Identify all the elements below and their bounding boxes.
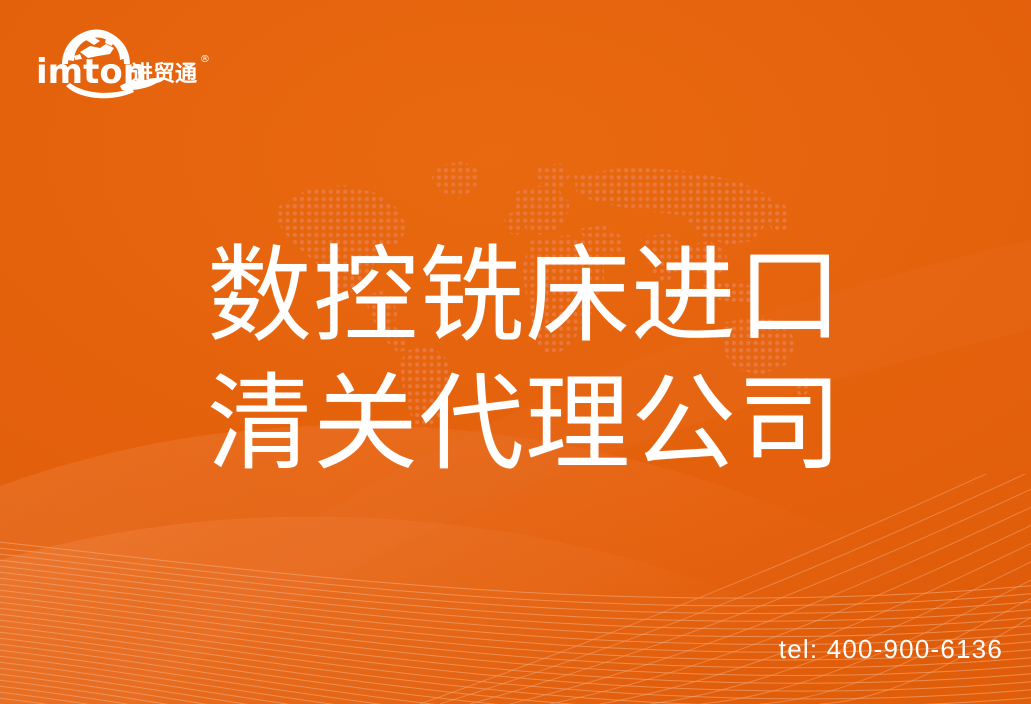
- page-title: 数控铣床进口 清关代理公司: [207, 232, 867, 488]
- registered-mark-icon: ®: [200, 54, 210, 65]
- headline-line-2: 清关代理公司: [207, 360, 867, 488]
- promo-banner: imton 进贸通 ® 数控铣床进口 清关代理公司 tel: 400-900-6…: [0, 0, 1031, 704]
- contact-telephone[interactable]: tel: 400-900-6136: [779, 634, 1003, 665]
- brand-logo[interactable]: imton 进贸通 ®: [34, 28, 219, 102]
- headline-line-1: 数控铣床进口: [207, 232, 867, 360]
